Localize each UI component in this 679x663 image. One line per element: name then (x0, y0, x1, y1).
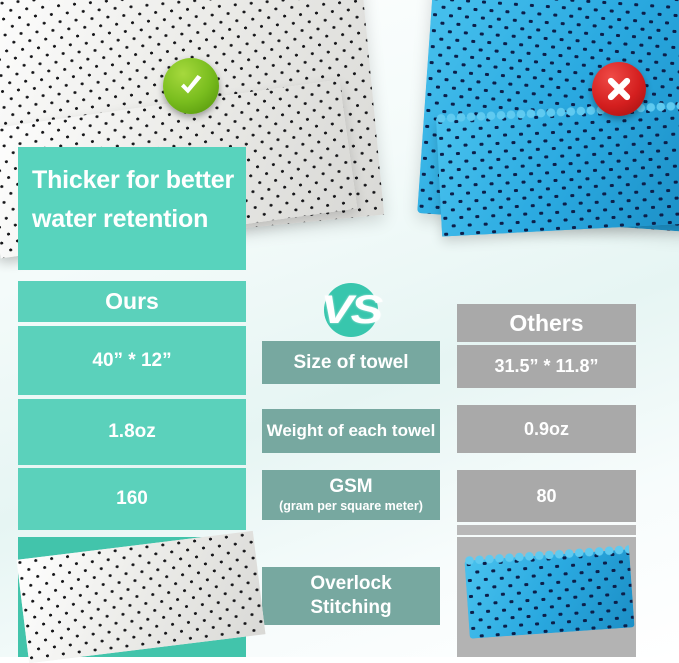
ours-value-gsm: 160 (18, 468, 246, 530)
attribute-label-gsm-sub: (gram per square meter) (279, 499, 423, 513)
product-comparison-infographic: Thicker for better water retention Ours … (0, 0, 679, 657)
ours-column-header: Ours (18, 281, 246, 322)
check-mark-icon (163, 58, 219, 114)
others-column-header: Others (457, 304, 636, 342)
others-value-size: 31.5” * 11.8” (457, 345, 636, 388)
stitching-line-2: Stitching (310, 597, 391, 619)
attribute-label-gsm: GSM (gram per square meter) (262, 470, 440, 520)
others-value-gsm: 80 (457, 470, 636, 522)
white-towel-stitching-image (17, 531, 266, 663)
others-value-weight: 0.9oz (457, 405, 636, 453)
attribute-label-weight: Weight of each towel (262, 409, 440, 453)
attribute-label-stitching: Overlock Stitching (262, 567, 440, 625)
stitching-line-1: Overlock (310, 573, 391, 595)
bottom-right-photo-panel (457, 537, 636, 657)
blue-towel-bottom-ruffle-edge (464, 544, 629, 566)
ours-value-size: 40” * 12” (18, 326, 246, 395)
attribute-label-gsm-main: GSM (329, 476, 372, 498)
blue-towel-ruffle-edge (433, 0, 679, 4)
bottom-right-panel-top-strip (457, 525, 636, 535)
bottom-left-photo-panel (18, 537, 246, 657)
x-mark-icon (592, 62, 646, 116)
headline-banner: Thicker for better water retention (18, 147, 246, 270)
attribute-label-size: Size of towel (262, 341, 440, 384)
blue-towel-top-fold-image (436, 106, 679, 237)
blue-towel-stitching-image (464, 549, 634, 638)
vs-badge: VS (324, 283, 378, 337)
headline-line-1: Thicker for better (32, 161, 234, 200)
headline-line-2: water retention (32, 200, 234, 239)
vs-label: VS (321, 288, 381, 333)
ours-value-weight: 1.8oz (18, 399, 246, 465)
